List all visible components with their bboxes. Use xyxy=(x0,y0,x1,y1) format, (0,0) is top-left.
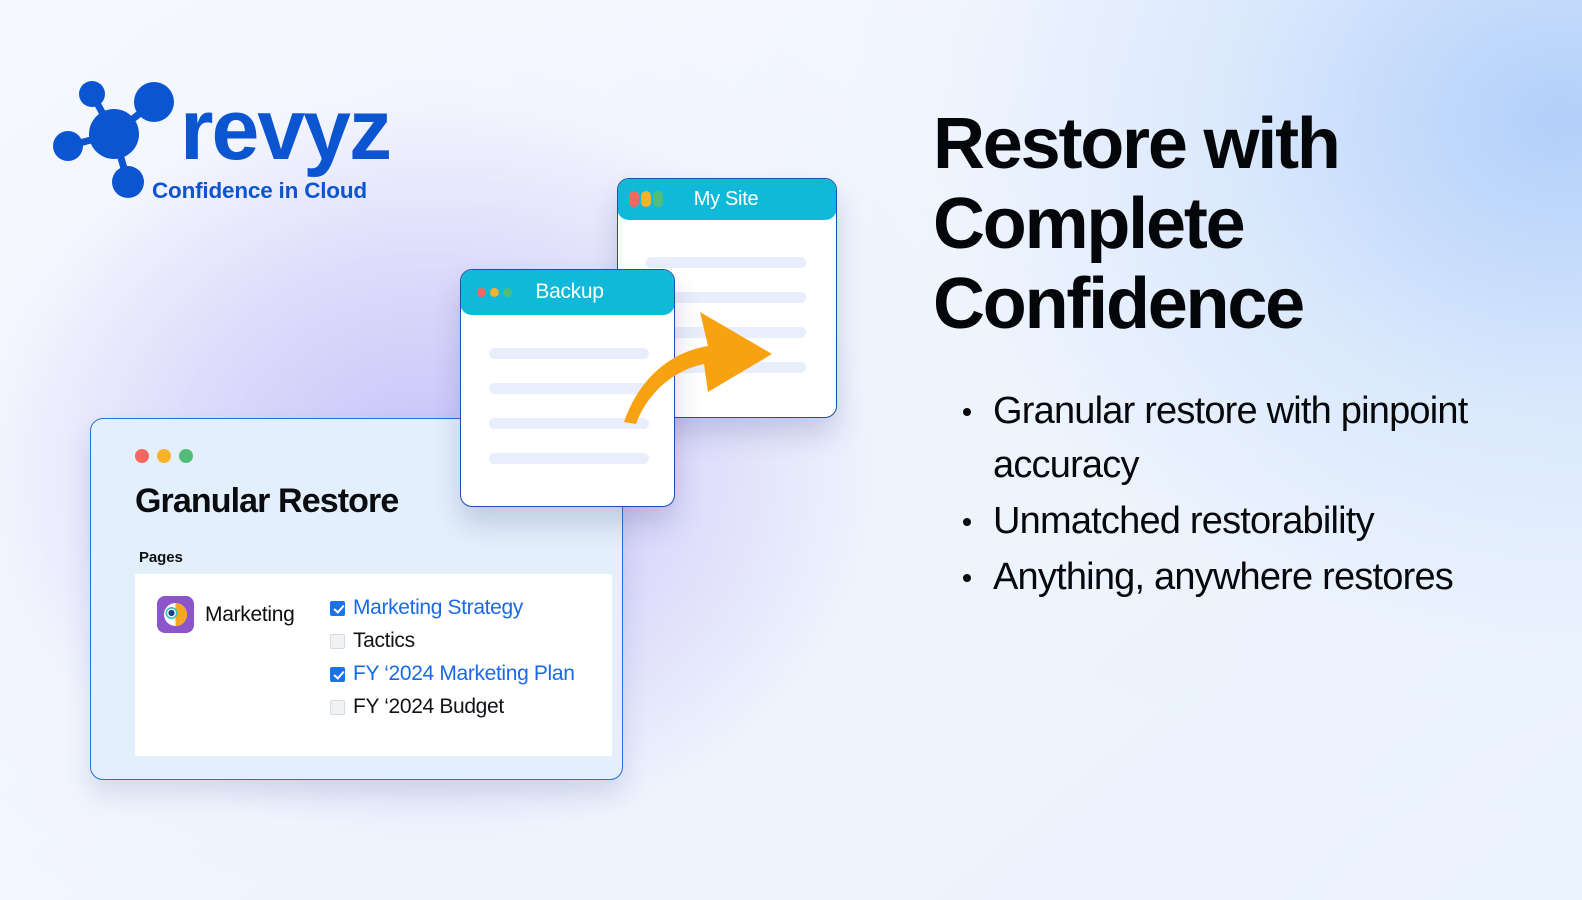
bullet-dot-icon xyxy=(963,408,971,416)
minimize-dot-icon[interactable] xyxy=(157,449,171,463)
checkbox-checked-icon[interactable] xyxy=(330,601,345,616)
window-title: My Site xyxy=(663,188,837,211)
page-label: Marketing Strategy xyxy=(353,596,523,620)
list-item[interactable]: Tactics xyxy=(330,625,575,657)
window-titlebar: Backup xyxy=(460,269,675,315)
close-dot-icon[interactable] xyxy=(135,449,149,463)
bullet-text: Unmatched restorability xyxy=(993,500,1374,542)
page-label: FY ‘2024 Budget xyxy=(353,695,504,719)
placeholder-line xyxy=(489,453,649,464)
placeholder-line xyxy=(489,383,649,394)
section-label-pages: Pages xyxy=(139,549,183,566)
backup-window: Backup xyxy=(460,269,675,507)
window-title: Backup xyxy=(512,280,675,304)
minimize-dot-icon[interactable] xyxy=(641,191,651,207)
promo-banner: revyz Confidence in Cloud Restore with C… xyxy=(0,0,1582,900)
logo-wordmark: revyz xyxy=(180,90,390,172)
placeholder-line xyxy=(646,257,806,268)
checkbox-checked-icon[interactable] xyxy=(330,667,345,682)
logo-tagline: Confidence in Cloud xyxy=(152,178,367,204)
window-traffic-lights xyxy=(629,191,663,207)
maximize-dot-icon[interactable] xyxy=(179,449,193,463)
maximize-dot-icon[interactable] xyxy=(503,288,512,297)
checkbox-unchecked-icon[interactable] xyxy=(330,634,345,649)
checkbox-unchecked-icon[interactable] xyxy=(330,700,345,715)
revyz-logo: revyz Confidence in Cloud xyxy=(52,72,392,212)
page-label: FY ‘2024 Marketing Plan xyxy=(353,662,575,686)
bullet-dot-icon xyxy=(963,574,971,582)
list-item[interactable]: FY ‘2024 Budget xyxy=(330,691,575,723)
list-item[interactable]: FY ‘2024 Marketing Plan xyxy=(330,658,575,690)
window-traffic-lights xyxy=(477,288,512,297)
list-item[interactable]: Marketing Strategy xyxy=(330,592,575,624)
close-dot-icon[interactable] xyxy=(629,191,639,207)
content-placeholder-lines xyxy=(489,348,649,488)
list-item: Unmatched restorability xyxy=(955,494,1515,548)
bullet-text: Anything, anywhere restores xyxy=(993,556,1453,598)
minimize-dot-icon[interactable] xyxy=(490,288,499,297)
hero-bullet-list: Granular restore with pinpoint accuracy … xyxy=(955,384,1515,606)
bullet-dot-icon xyxy=(963,518,971,526)
confluence-space-avatar-icon xyxy=(157,596,194,633)
pages-checklist: Marketing Strategy Tactics FY ‘2024 Mark… xyxy=(330,592,575,723)
placeholder-line xyxy=(489,348,649,359)
space-name: Marketing xyxy=(205,603,295,627)
window-traffic-lights xyxy=(135,449,193,463)
page-title: Granular Restore xyxy=(135,482,398,521)
pages-panel: Marketing Marketing Strategy Tactics FY … xyxy=(135,574,612,756)
list-item: Anything, anywhere restores xyxy=(955,550,1515,604)
bullet-text: Granular restore with pinpoint accuracy xyxy=(993,390,1467,486)
list-item: Granular restore with pinpoint accuracy xyxy=(955,384,1515,492)
space-row[interactable]: Marketing xyxy=(157,596,295,633)
maximize-dot-icon[interactable] xyxy=(653,191,663,207)
close-dot-icon[interactable] xyxy=(477,288,486,297)
window-titlebar: My Site xyxy=(617,178,837,220)
hero-headline: Restore with Complete Confidence xyxy=(933,104,1533,344)
page-label: Tactics xyxy=(353,629,415,653)
placeholder-line xyxy=(489,418,649,429)
